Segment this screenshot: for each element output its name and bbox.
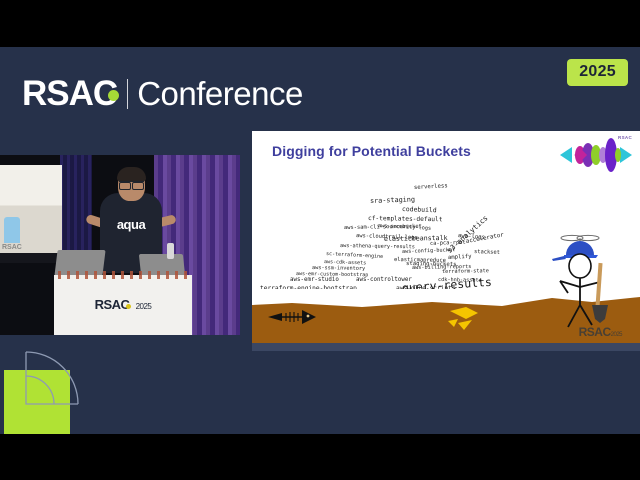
projection-screen-shape bbox=[4, 217, 20, 243]
projection-screen: RSAC bbox=[0, 165, 62, 253]
projection-screen-text: RSAC bbox=[2, 244, 22, 251]
rsac-soundwave-logo: RSAC bbox=[558, 135, 634, 175]
stick-figure-digger bbox=[550, 233, 628, 337]
rsac-conference-wordmark: RSAC Conference bbox=[22, 74, 303, 114]
word-cloud-term: amplify bbox=[448, 254, 472, 261]
word-cloud-term: sra-staging bbox=[370, 195, 415, 205]
podium: RSAC 2025 bbox=[54, 275, 192, 335]
speaker-hair bbox=[117, 167, 146, 181]
year-badge: 2025 bbox=[567, 59, 628, 86]
word-cloud-term: cf-templates-default bbox=[368, 215, 443, 223]
speaker-shirt-logo: aqua bbox=[104, 217, 158, 233]
slide-watermark-year: 2025 bbox=[611, 332, 622, 338]
soundwave-logo-label: RSAC bbox=[618, 135, 632, 140]
presentation-canvas: RSAC Conference 2025 RSAC aqua bbox=[0, 47, 640, 434]
word-cloud-term: serverless bbox=[414, 183, 448, 191]
slide-title: Digging for Potential Buckets bbox=[272, 143, 471, 159]
word-cloud-term: terraform-engine-bootstrap bbox=[260, 285, 357, 289]
podium-logo-dot bbox=[126, 304, 131, 309]
desk-cables bbox=[58, 271, 188, 279]
word-cloud-term: terraform-state bbox=[442, 268, 489, 275]
speaker-glasses bbox=[119, 181, 144, 187]
corner-arc-icon bbox=[4, 346, 108, 434]
letterbox-top bbox=[0, 0, 640, 47]
word-cloud-term: aws-emr-studio bbox=[290, 277, 339, 283]
podium-logo-year: 2025 bbox=[136, 302, 152, 311]
word-cloud-term: query-results bbox=[402, 275, 493, 289]
corner-decoration bbox=[4, 346, 108, 434]
water-bottle bbox=[167, 243, 174, 259]
figure-left-leg bbox=[568, 305, 580, 327]
shovel-icon bbox=[592, 263, 608, 323]
speaker-video-feed[interactable]: RSAC aqua RSAC 2025 bbox=[0, 155, 240, 335]
slide-watermark-text: RSAC bbox=[579, 325, 611, 339]
word-cloud-term: codebuild bbox=[402, 205, 437, 214]
slide-panel[interactable]: Digging for Potential Buckets RSAC serve… bbox=[252, 131, 640, 351]
slide-rsac-watermark: RSAC2025 bbox=[579, 325, 622, 339]
wordmark-conference: Conference bbox=[137, 75, 303, 113]
podium-logo-rsac: RSAC bbox=[95, 297, 130, 312]
figure-right-leg bbox=[580, 305, 592, 325]
word-cloud-term: aws-security-logs bbox=[378, 223, 431, 232]
letterbox-bottom bbox=[0, 434, 640, 480]
podium-logo: RSAC 2025 bbox=[54, 297, 192, 312]
wordmark-rsac: RSAC bbox=[22, 74, 117, 114]
figure-head bbox=[569, 254, 591, 278]
screenshot-root: RSAC Conference 2025 RSAC aqua bbox=[0, 0, 640, 480]
word-cloud-term: staging-buckets bbox=[406, 261, 457, 268]
wordmark-divider bbox=[127, 79, 128, 109]
screen-stand bbox=[0, 253, 64, 263]
wordmark-green-dot bbox=[108, 90, 119, 101]
word-cloud-term: stackset bbox=[474, 249, 500, 256]
